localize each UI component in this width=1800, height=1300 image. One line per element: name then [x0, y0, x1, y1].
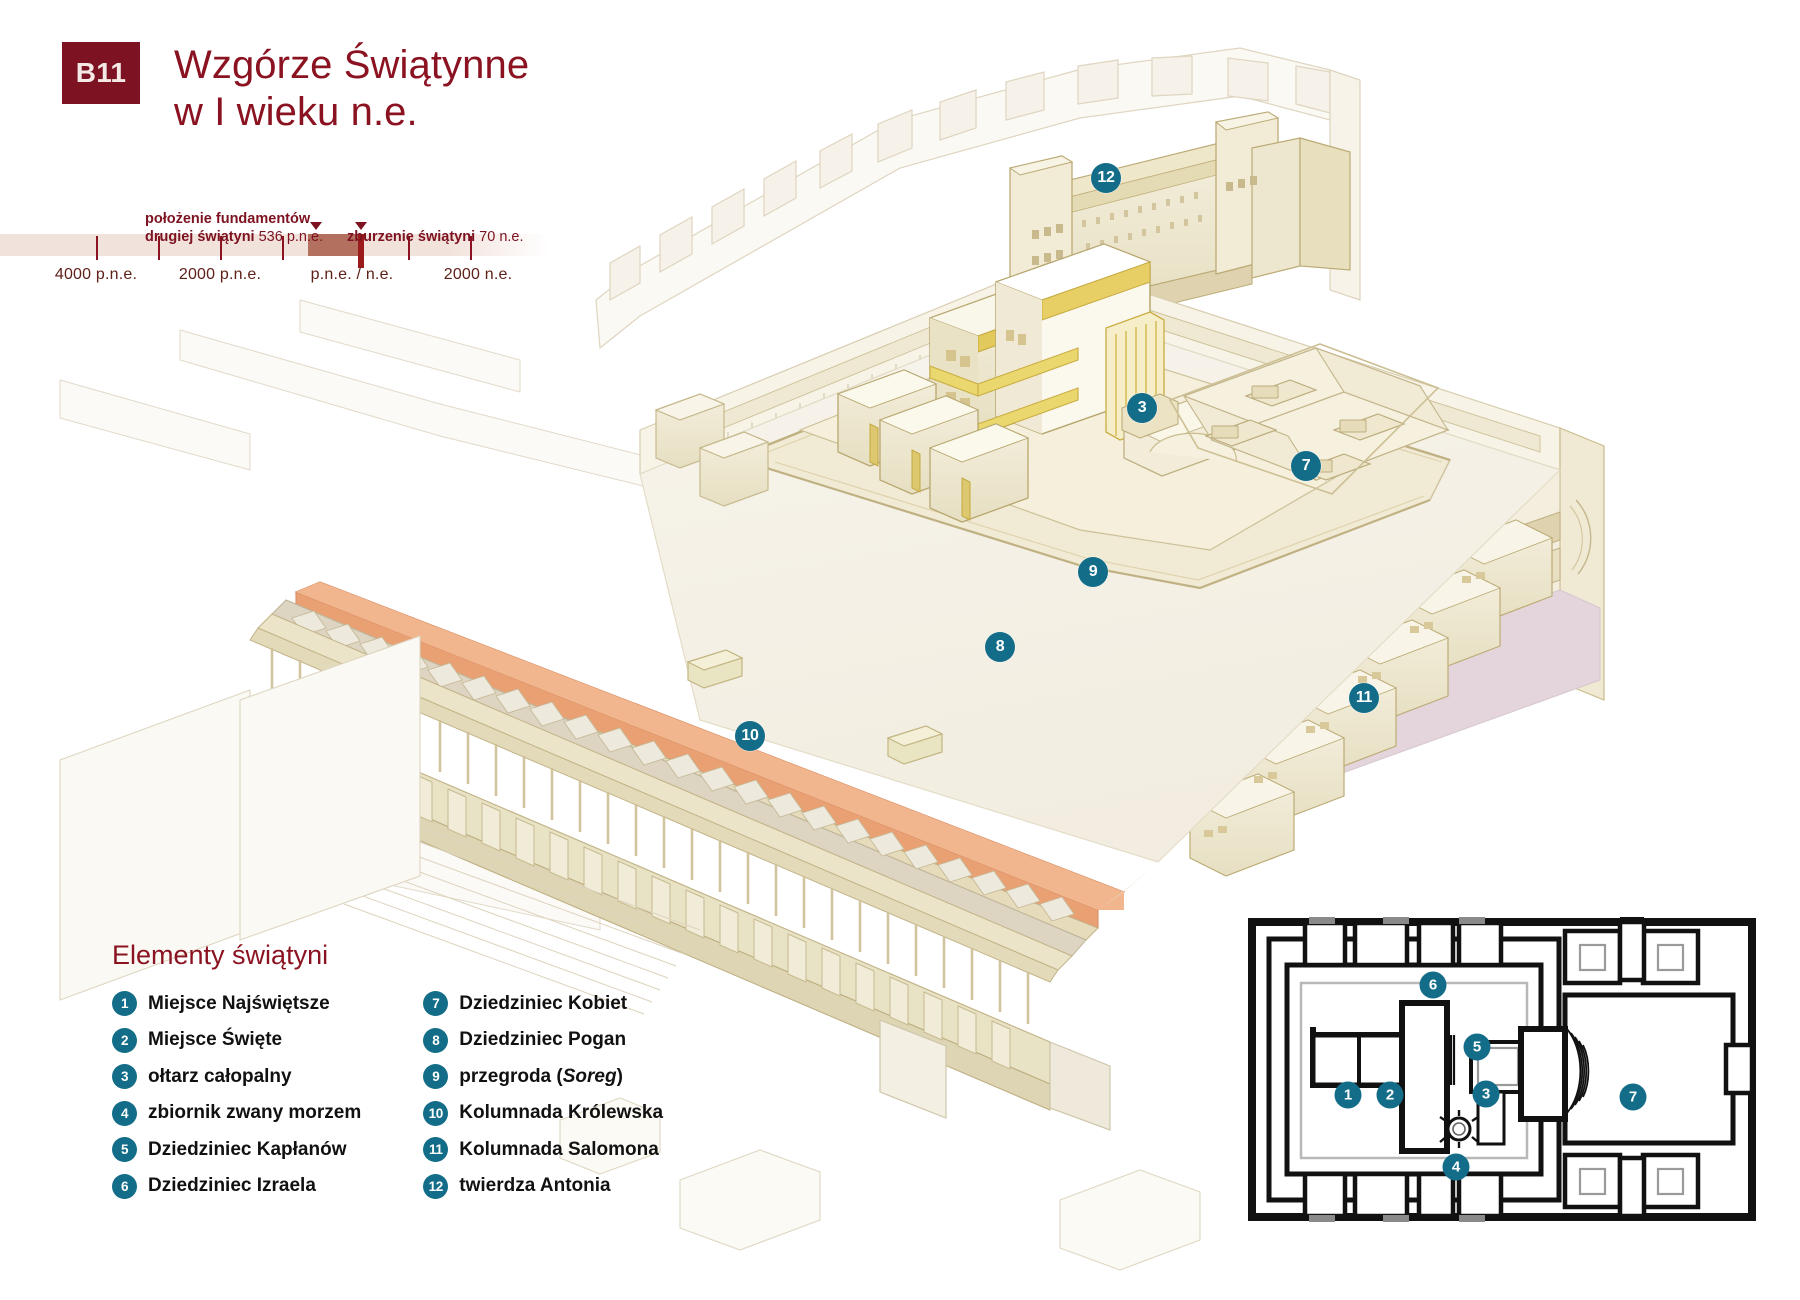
- timeline-label-2: p.n.e. / n.e.: [311, 266, 394, 284]
- plan-molten-sea[interactable]: 4: [1443, 1154, 1470, 1181]
- timeline-label-3: 2000 n.e.: [444, 266, 513, 284]
- plan-altar[interactable]: 3: [1473, 1081, 1500, 1108]
- legend-item-label: Dziedziniec Kapłanów: [148, 1139, 346, 1161]
- ghost-city-wall: [596, 48, 1330, 348]
- legend-item-label: Kolumnada Królewska: [459, 1102, 663, 1124]
- legend-item-2[interactable]: 2Miejsce Święte: [112, 1028, 361, 1053]
- legend-item-6[interactable]: 6Dziedziniec Izraela: [112, 1174, 361, 1199]
- legend-number-badge: 11: [423, 1137, 448, 1162]
- legend-item-label: przegroda (Soreg): [459, 1066, 623, 1088]
- west-gate-structures: [656, 394, 768, 506]
- legend-number-badge: 10: [423, 1101, 448, 1126]
- legend-item-3[interactable]: 3ołtarz całopalny: [112, 1064, 361, 1089]
- map-marker-solomons-colonnade[interactable]: 11: [1349, 683, 1379, 713]
- legend-item-1[interactable]: 1Miejsce Najświętsze: [112, 991, 361, 1016]
- timeline-event-foundation-year: 536 p.n.e.: [259, 229, 324, 245]
- legend-number-badge: 9: [423, 1064, 448, 1089]
- legend-number-badge: 8: [423, 1028, 448, 1053]
- timeline-tick: [96, 236, 98, 260]
- timeline-event-destruction-arrow: [355, 222, 367, 230]
- map-id-badge: B11: [62, 42, 140, 104]
- temple-sanctuary: [838, 244, 1244, 522]
- map-marker-altar-of-burnt-offering[interactable]: 3: [1127, 393, 1157, 423]
- plan-court-of-israel[interactable]: 6: [1420, 972, 1447, 999]
- timeline-event-foundation-arrow: [310, 222, 322, 230]
- map-marker-court-of-women[interactable]: 7: [1291, 451, 1321, 481]
- legend-item-label: Kolumnada Salomona: [459, 1139, 659, 1161]
- timeline-event-foundation: położenie fundamentów drugiej świątyni 5…: [145, 192, 323, 246]
- legend-item-label: Miejsce Najświętsze: [148, 993, 330, 1015]
- legend: Elementy świątyni 1Miejsce Najświętsze2M…: [112, 940, 732, 1199]
- legend-item-8[interactable]: 8Dziedziniec Pogan: [423, 1028, 663, 1053]
- legend-item-label: twierdza Antonia: [459, 1175, 610, 1197]
- legend-item-label: Dziedziniec Pogan: [459, 1029, 626, 1051]
- timeline: 4000 p.n.e. 2000 p.n.e. p.n.e. / n.e. 20…: [0, 200, 560, 310]
- legend-item-5[interactable]: 5Dziedziniec Kapłanów: [112, 1137, 361, 1162]
- legend-item-10[interactable]: 10Kolumnada Królewska: [423, 1101, 663, 1126]
- legend-item-label: Dziedziniec Izraela: [148, 1175, 316, 1197]
- legend-item-11[interactable]: 11Kolumnada Salomona: [423, 1137, 663, 1162]
- legend-number-badge: 4: [112, 1101, 137, 1126]
- antonia-fortress-art: [1010, 112, 1350, 340]
- page-header: B11 Wzgórze Świątynne w I wieku n.e.: [62, 42, 529, 136]
- timeline-label-0: 4000 p.n.e.: [55, 266, 137, 284]
- map-marker-soreg-barrier[interactable]: 9: [1078, 557, 1108, 587]
- plan-holy-of-holies[interactable]: 1: [1335, 1082, 1362, 1109]
- legend-item-label: Miejsce Święte: [148, 1029, 282, 1051]
- timeline-label-1: 2000 p.n.e.: [179, 266, 261, 284]
- plaza-furniture: [688, 650, 942, 764]
- legend-number-badge: 6: [112, 1174, 137, 1199]
- legend-item-7[interactable]: 7Dziedziniec Kobiet: [423, 991, 663, 1016]
- legend-number-badge: 7: [423, 991, 448, 1016]
- legend-item-9[interactable]: 9przegroda (Soreg): [423, 1064, 663, 1089]
- map-marker-antonia-fortress[interactable]: 12: [1091, 163, 1121, 193]
- legend-column-left: 1Miejsce Najświętsze2Miejsce Święte3ołta…: [112, 991, 361, 1199]
- legend-number-badge: 12: [423, 1174, 448, 1199]
- timeline-event-destruction: zburzenie świątyni 70 n.e.: [347, 210, 524, 246]
- legend-item-label: zbiornik zwany morzem: [148, 1102, 361, 1124]
- legend-number-badge: 3: [112, 1064, 137, 1089]
- map-marker-court-of-gentiles[interactable]: 8: [985, 632, 1015, 662]
- ghost-western-structures: [60, 300, 700, 930]
- legend-number-badge: 5: [112, 1137, 137, 1162]
- north-portico: [640, 262, 1560, 492]
- map-marker-royal-stoa[interactable]: 10: [735, 721, 765, 751]
- plan-court-of-women[interactable]: 7: [1620, 1084, 1647, 1111]
- plan-court-of-priests[interactable]: 5: [1464, 1034, 1491, 1061]
- plan-holy-place[interactable]: 2: [1377, 1082, 1404, 1109]
- timeline-event-destruction-text: zburzenie świątyni: [347, 229, 479, 245]
- timeline-event-destruction-year: 70 n.e.: [479, 229, 523, 245]
- legend-number-badge: 2: [112, 1028, 137, 1053]
- legend-item-12[interactable]: 12twierdza Antonia: [423, 1174, 663, 1199]
- legend-column-right: 7Dziedziniec Kobiet8Dziedziniec Pogan9pr…: [423, 991, 663, 1199]
- legend-number-badge: 1: [112, 991, 137, 1016]
- legend-title: Elementy świątyni: [112, 940, 732, 971]
- page-title: Wzgórze Świątynne w I wieku n.e.: [174, 42, 529, 136]
- legend-item-4[interactable]: 4zbiornik zwany morzem: [112, 1101, 361, 1126]
- legend-item-label: Dziedziniec Kobiet: [459, 993, 627, 1015]
- solomons-colonnade: [1190, 428, 1604, 876]
- legend-item-label: ołtarz całopalny: [148, 1066, 292, 1088]
- temple-terrace: [760, 332, 1450, 588]
- temple-floor-plan-inset: 6512347: [1247, 917, 1757, 1222]
